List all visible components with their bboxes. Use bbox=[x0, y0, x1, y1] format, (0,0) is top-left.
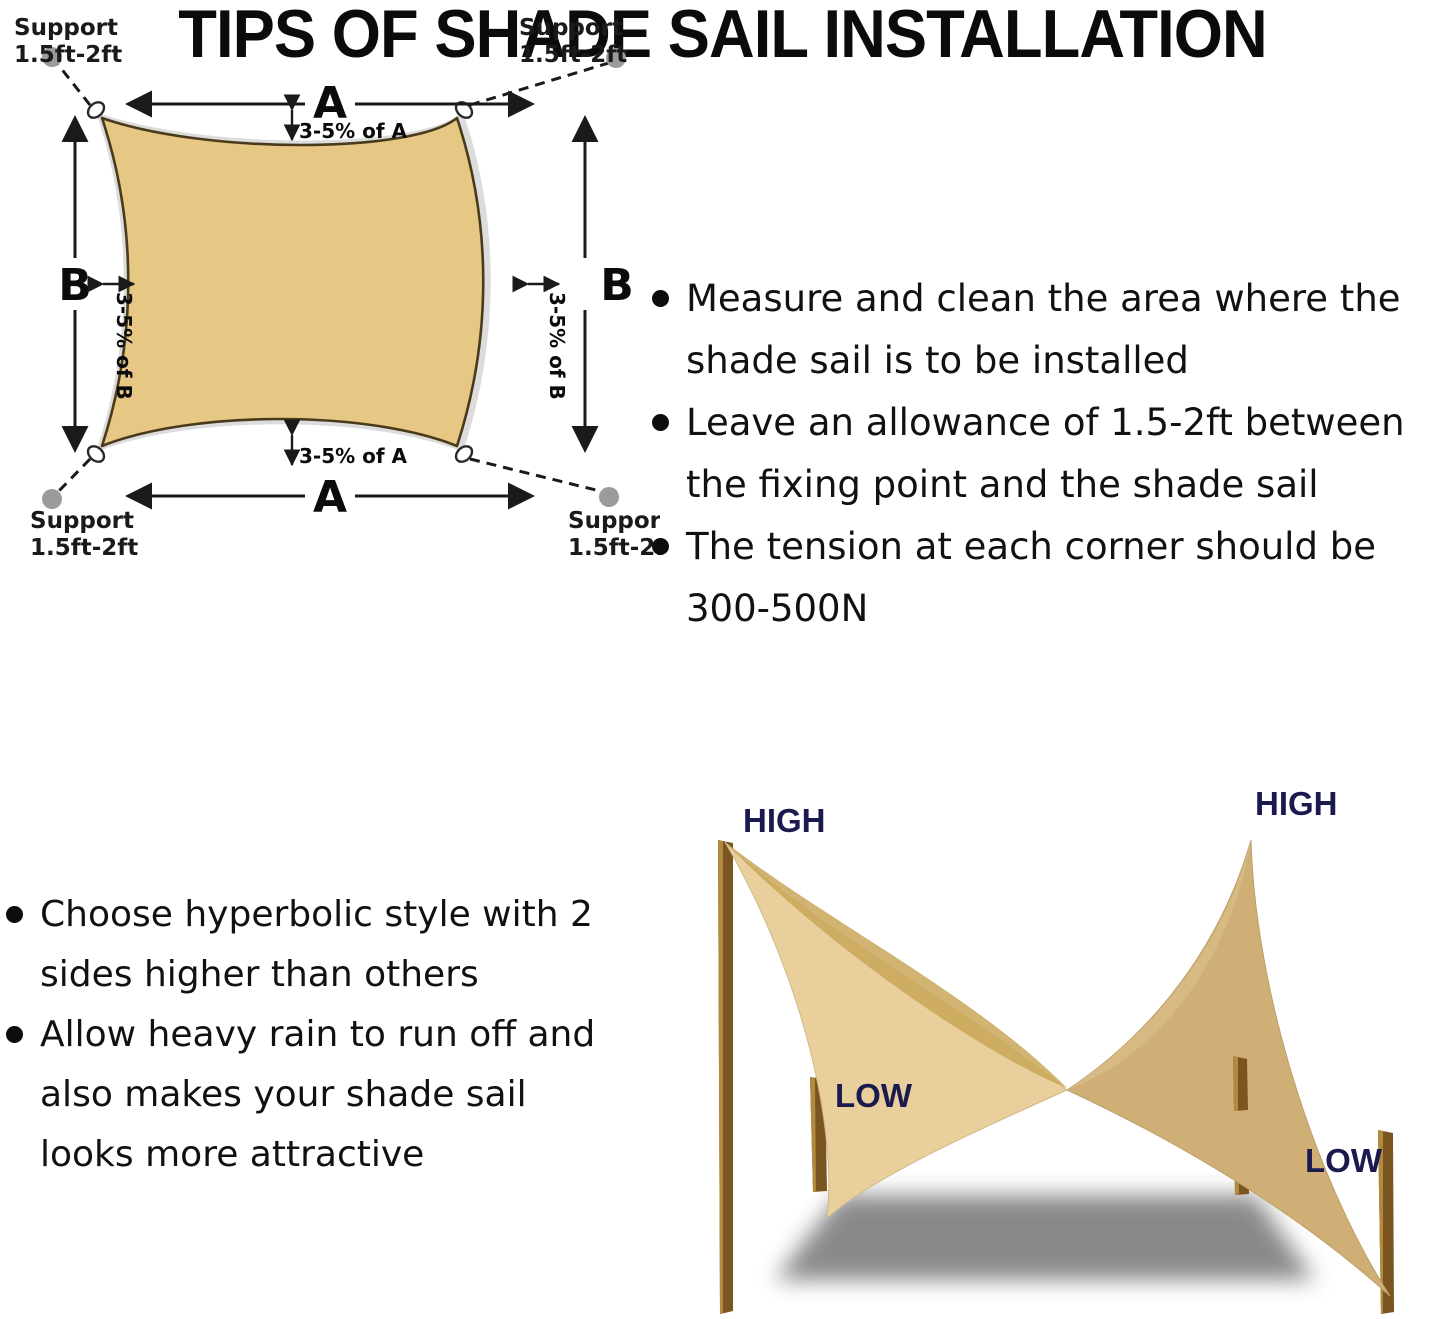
support-label-bottom-right: Support 1.5ft-2ft bbox=[568, 508, 660, 561]
list-item: The tension at each corner should be 300… bbox=[652, 516, 1445, 640]
ground-shadow bbox=[775, 1195, 1315, 1280]
label-high-left: HIGH bbox=[743, 802, 826, 839]
bullet-dot-icon bbox=[652, 290, 669, 307]
bullet-dot-icon bbox=[6, 1026, 23, 1043]
sail-body bbox=[102, 118, 483, 446]
tips-list-top: Measure and clean the area where the sha… bbox=[652, 268, 1445, 640]
bullet-dot-icon bbox=[652, 414, 669, 431]
support-label-line2: 1.5ft-2ft bbox=[519, 42, 627, 68]
bullet-dot-icon bbox=[6, 906, 23, 923]
dimension-b-left-label: B bbox=[58, 260, 92, 311]
support-label-top-left: Support 1.5ft-2ft bbox=[14, 15, 122, 68]
curve-callout-bottom-label: 3-5% of A bbox=[299, 444, 408, 468]
list-item-text: Choose hyperbolic style with 2 sides hig… bbox=[23, 885, 621, 1005]
dimension-a-bottom: A bbox=[128, 472, 532, 523]
dimension-b-right-label: B bbox=[600, 260, 634, 311]
support-bottom-left bbox=[42, 459, 90, 509]
curve-callout-top-label: 3-5% of A bbox=[299, 119, 408, 143]
hyperbolic-sail-illustration: HIGH HIGH LOW LOW bbox=[655, 780, 1445, 1319]
support-label-line1: Support bbox=[30, 508, 134, 534]
support-dot bbox=[42, 489, 62, 509]
support-label-line2: 1.5ft-2ft bbox=[568, 535, 660, 561]
support-label-top-right: Support 1.5ft-2ft bbox=[519, 15, 627, 68]
support-label-line1: Support bbox=[568, 508, 660, 534]
support-label-line2: 1.5ft-2ft bbox=[30, 535, 138, 561]
list-item: Measure and clean the area where the sha… bbox=[652, 268, 1445, 392]
curve-callout-left-label: 3-5% of B bbox=[112, 292, 136, 400]
support-label-line1: Support bbox=[519, 15, 623, 41]
list-item: Leave an allowance of 1.5-2ft between th… bbox=[652, 392, 1445, 516]
curve-callout-bottom: 3-5% of A bbox=[292, 435, 408, 468]
curve-callout-left: 3-5% of B bbox=[103, 284, 136, 400]
rectangular-sail-diagram: Support 1.5ft-2ft Support 1.5ft-2ft Supp… bbox=[0, 0, 660, 570]
sail-panel-left bbox=[725, 842, 1067, 1218]
curve-callout-right: 3-5% of B bbox=[528, 284, 569, 400]
list-item-text: Allow heavy rain to run off and also mak… bbox=[23, 1005, 621, 1185]
list-item-text: The tension at each corner should be 300… bbox=[669, 516, 1445, 640]
dimension-b-left: B bbox=[58, 118, 92, 450]
list-item-text: Leave an allowance of 1.5-2ft between th… bbox=[669, 392, 1445, 516]
dimension-b-right: B bbox=[585, 118, 634, 450]
support-label-bottom-left: Support 1.5ft-2ft bbox=[30, 508, 138, 561]
list-item: Choose hyperbolic style with 2 sides hig… bbox=[6, 885, 621, 1005]
list-item-text: Measure and clean the area where the sha… bbox=[669, 268, 1445, 392]
bullet-dot-icon bbox=[652, 538, 669, 555]
curve-callout-right-label: 3-5% of B bbox=[545, 292, 569, 400]
label-high-right: HIGH bbox=[1255, 785, 1338, 822]
label-low-left: LOW bbox=[835, 1077, 913, 1114]
curve-callout-top: 3-5% of A bbox=[292, 110, 408, 143]
tips-list-bottom: Choose hyperbolic style with 2 sides hig… bbox=[6, 885, 621, 1185]
label-low-right: LOW bbox=[1305, 1142, 1383, 1179]
support-label-line2: 1.5ft-2ft bbox=[14, 42, 122, 68]
list-item: Allow heavy rain to run off and also mak… bbox=[6, 1005, 621, 1185]
post-inner-right-front bbox=[1233, 1056, 1248, 1111]
support-dot bbox=[599, 487, 619, 507]
dimension-a-bottom-label: A bbox=[313, 472, 347, 523]
support-label-line1: Support bbox=[14, 15, 118, 41]
infographic-page: TIPS OF SHADE SAIL INSTALLATION bbox=[0, 0, 1445, 1319]
support-bottom-right bbox=[470, 459, 619, 507]
post-far-left bbox=[718, 840, 733, 1314]
